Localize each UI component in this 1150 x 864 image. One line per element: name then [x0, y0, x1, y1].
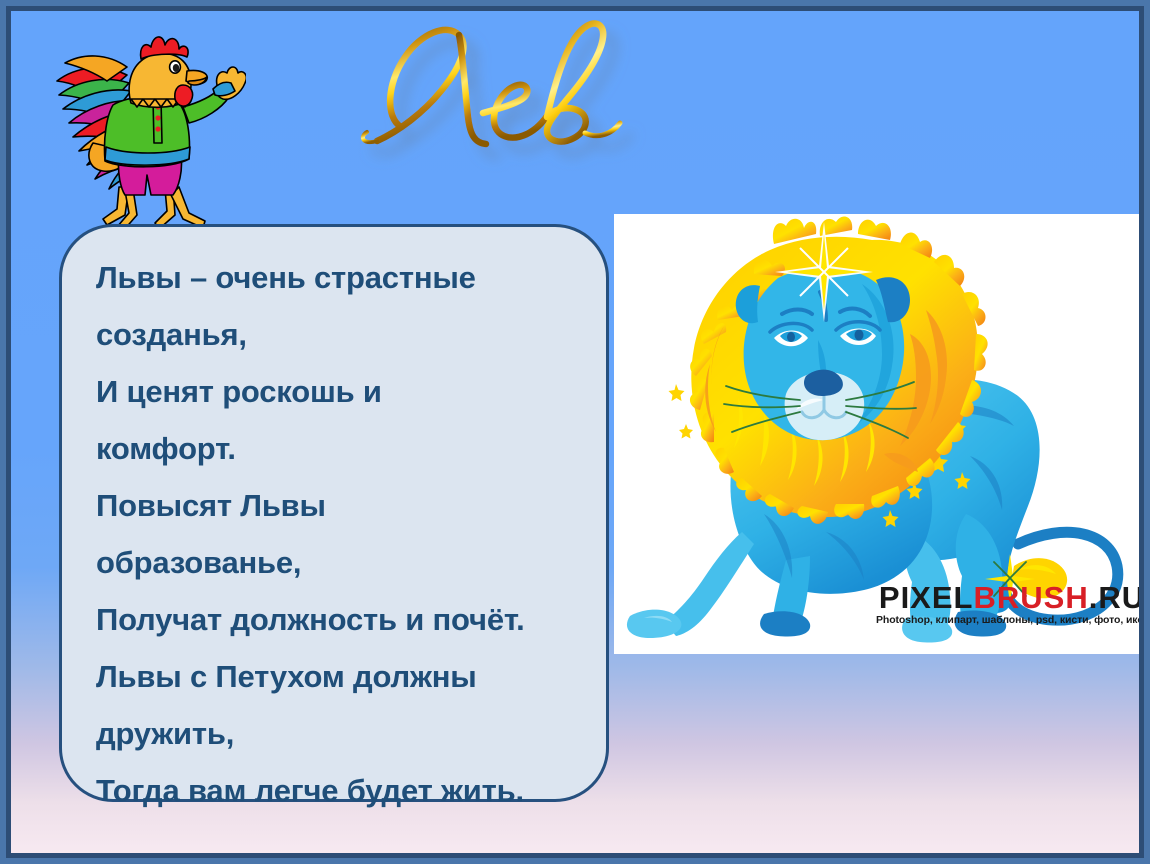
verse-line: И ценят роскошь и [96, 363, 578, 420]
verse-line: Тогда вам легче будет жить. [96, 762, 578, 819]
verse-line-list: Львы – очень страстные созданья, И ценят… [96, 249, 578, 819]
watermark-part-1: PIXEL [879, 582, 974, 615]
watermark-group: PIXELBRUSH.RU Photoshop, клипарт, шаблон… [876, 582, 1144, 652]
lion-illustration: PIXELBRUSH.RU Photoshop, клипарт, шаблон… [614, 214, 1144, 654]
rooster-wattle [175, 85, 193, 106]
verse-line: комфорт. [96, 420, 578, 477]
watermark-part-2: BRUSH [973, 582, 1088, 615]
slide-background: Лев [11, 11, 1139, 853]
watermark-part-3: .RU [1089, 582, 1144, 615]
verse-text-box: Львы – очень страстные созданья, И ценят… [59, 224, 609, 802]
lion-image: PIXELBRUSH.RU Photoshop, клипарт, шаблон… [614, 214, 1144, 654]
verse-line: дружить, [96, 705, 578, 762]
slide-frame: Лев [0, 0, 1150, 864]
verse-line: Получат должность и почёт. [96, 591, 578, 648]
verse-line: созданья, [96, 306, 578, 363]
slide-frame-inner: Лев [6, 6, 1144, 858]
verse-line: Повысят Львы [96, 477, 578, 534]
watermark-subtitle: Photoshop, клипарт, шаблоны, psd, кисти,… [876, 614, 1144, 627]
verse-line: Львы с Петухом должны [96, 648, 578, 705]
watermark-title: PIXELBRUSH.RU [876, 582, 1144, 614]
rooster-clipart [41, 19, 246, 241]
rooster-illustration [41, 19, 246, 241]
verse-line: образованье, [96, 534, 578, 591]
title-script-art [371, 6, 701, 190]
verse-line: Львы – очень страстные [96, 249, 578, 306]
slide-title: Лев [371, 6, 701, 190]
